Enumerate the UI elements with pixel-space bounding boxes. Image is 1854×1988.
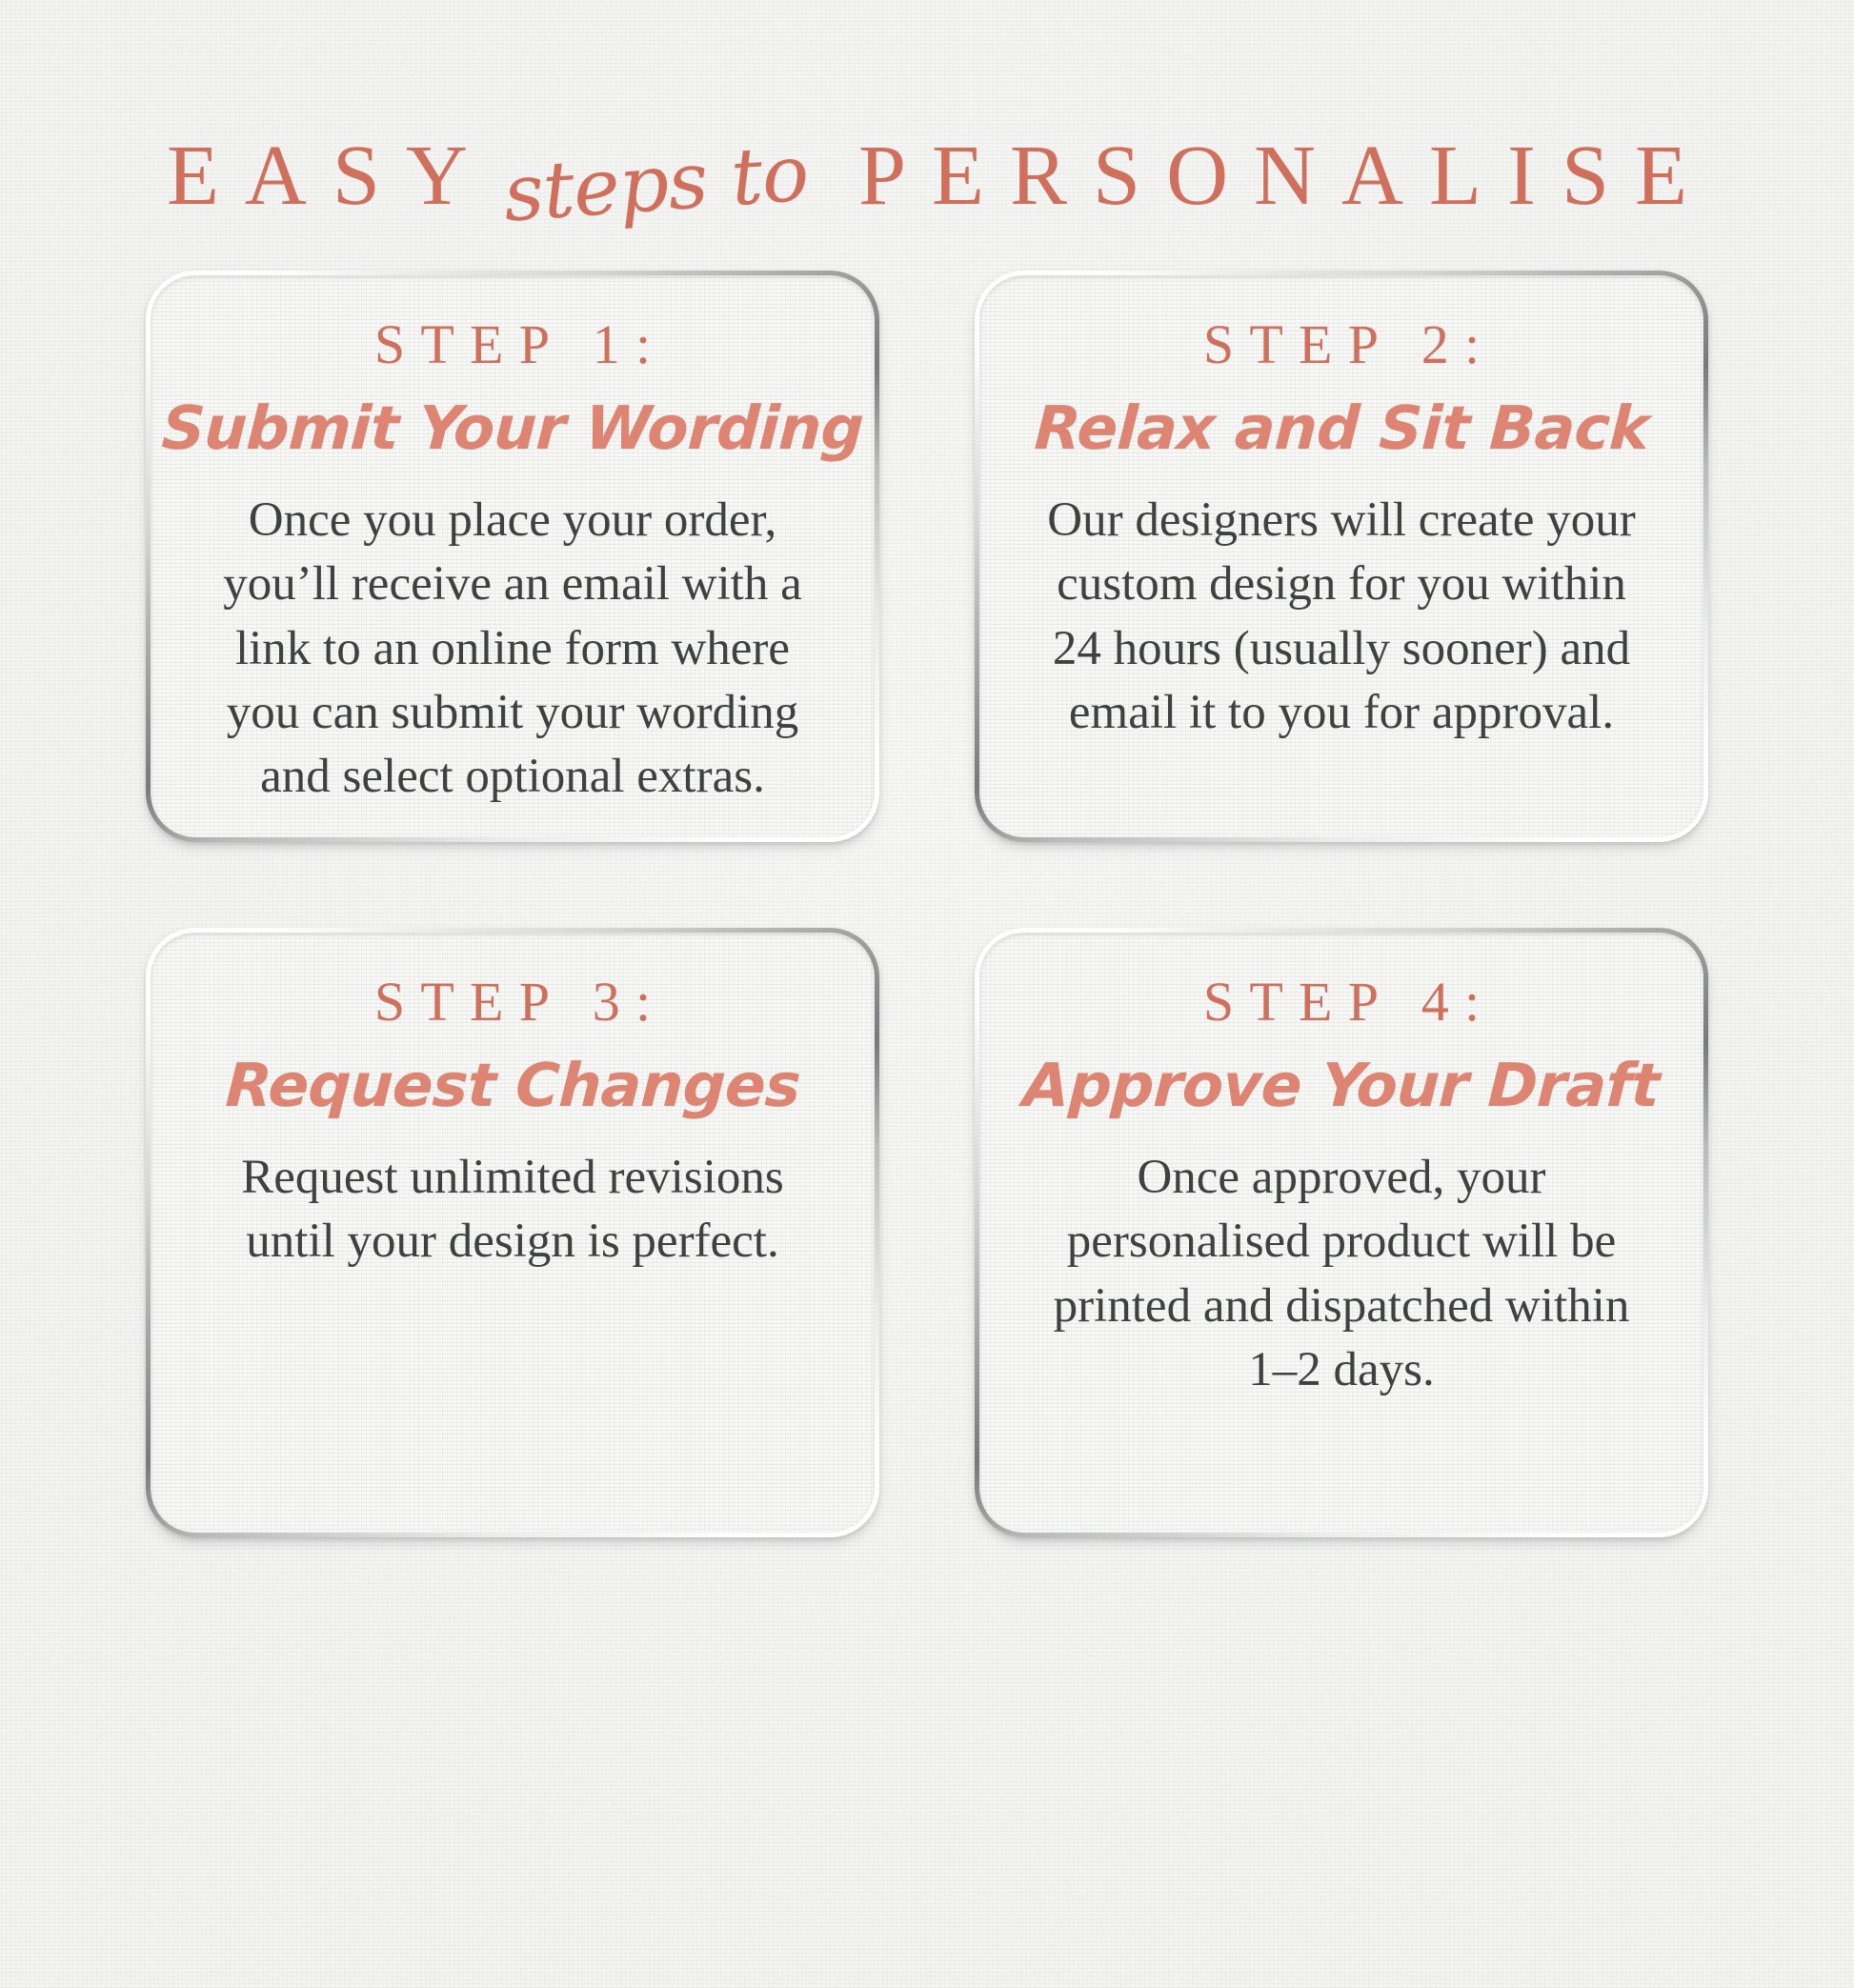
step-card-1: STEP 1: Submit Your Wording Once you pla… <box>146 271 879 842</box>
step-card-1-inner: STEP 1: Submit Your Wording Once you pla… <box>151 275 875 837</box>
step-card-1-body: Once you place your order, you’ll receiv… <box>198 489 827 810</box>
headline-trail-text: PERSONALISE <box>833 133 1713 219</box>
headline-lead-text: EASY <box>141 133 494 219</box>
step-card-3-body: Request unlimited revisions until your d… <box>198 1146 827 1275</box>
step-card-2-step-label: STEP 2: <box>1188 317 1496 372</box>
step-card-4-inner: STEP 4: Approve Your Draft Once approved… <box>979 933 1703 1533</box>
headline-script-text: steps to <box>492 133 836 235</box>
step-card-4-step-label: STEP 4: <box>1188 974 1496 1030</box>
step-card-4: STEP 4: Approve Your Draft Once approved… <box>975 928 1708 1537</box>
step-card-2-inner: STEP 2: Relax and Sit Back Our designers… <box>979 275 1703 837</box>
steps-card-grid: STEP 1: Submit Your Wording Once you pla… <box>146 271 1708 1537</box>
step-card-1-title: Submit Your Wording <box>160 397 864 460</box>
step-card-1-step-label: STEP 1: <box>359 317 667 372</box>
page-title: EASY steps to PERSONALISE <box>0 133 1854 238</box>
step-card-2: STEP 2: Relax and Sit Back Our designers… <box>975 271 1708 842</box>
step-card-2-title: Relax and Sit Back <box>1033 397 1650 460</box>
step-card-3: STEP 3: Request Changes Request unlimite… <box>146 928 879 1537</box>
step-card-4-title: Approve Your Draft <box>1022 1054 1662 1117</box>
step-card-3-title: Request Changes <box>224 1054 801 1117</box>
step-card-4-body: Once approved, your personalised product… <box>1027 1146 1656 1402</box>
step-card-3-inner: STEP 3: Request Changes Request unlimite… <box>151 933 875 1533</box>
steps-infographic-page: EASY steps to PERSONALISE STEP 1: Submit… <box>0 0 1854 1988</box>
step-card-3-step-label: STEP 3: <box>359 974 667 1030</box>
step-card-2-body: Our designers will create your custom de… <box>1027 489 1656 745</box>
